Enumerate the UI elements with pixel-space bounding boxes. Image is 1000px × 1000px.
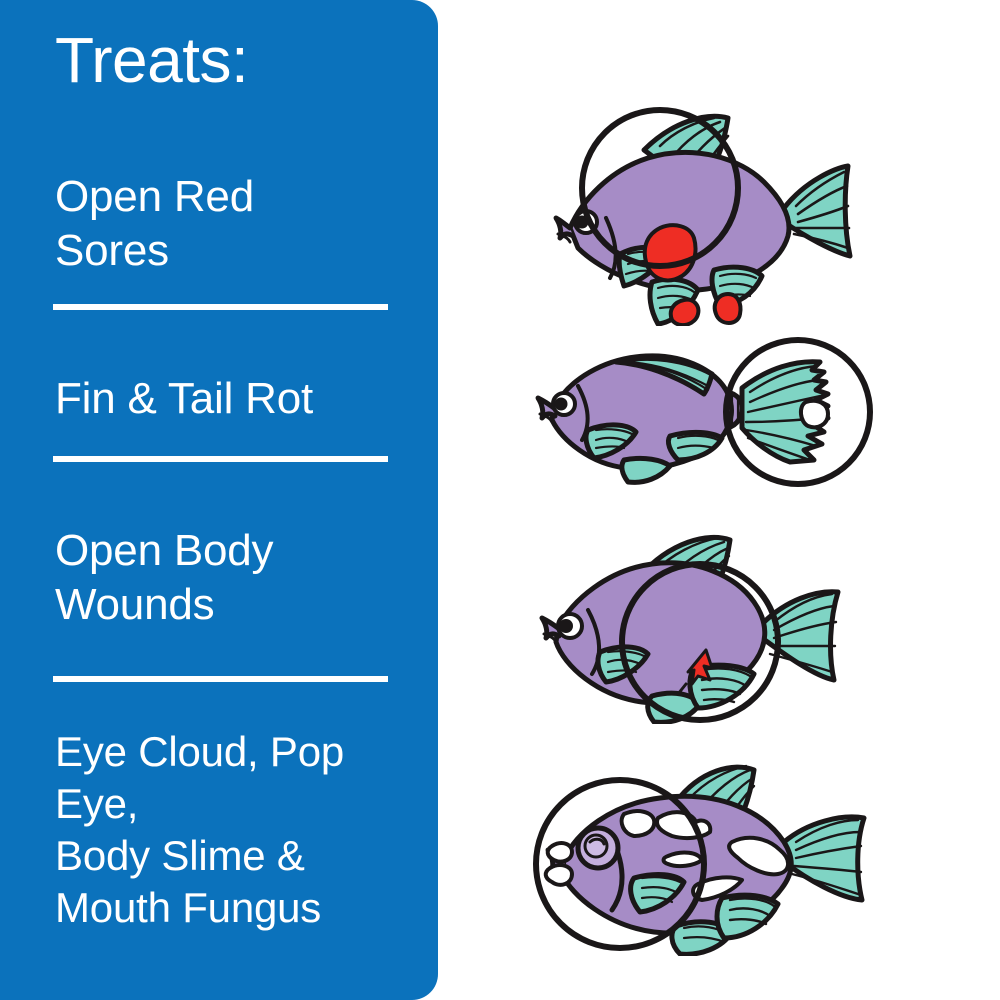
treats-panel: Treats: Open Red Sores Fin & Tail Rot Op… (0, 0, 438, 1000)
treat-label-eye-cloud-pop-eye: Eye Cloud, Pop Eye, Body Slime & Mouth F… (55, 726, 344, 934)
divider-3 (53, 676, 388, 682)
page-title: Treats: (55, 28, 248, 92)
divider-1 (53, 304, 388, 310)
fish-red-sores-icon (548, 96, 878, 326)
fish-fin-tail-rot-icon (528, 336, 878, 501)
treat-label-fin-tail-rot: Fin & Tail Rot (55, 372, 313, 426)
fish-eye-cloud-icon (516, 756, 884, 956)
poster-root: Treats: Open Red Sores Fin & Tail Rot Op… (0, 0, 1000, 1000)
divider-2 (53, 456, 388, 462)
treat-label-open-red-sores: Open Red Sores (55, 170, 254, 278)
treat-label-open-body-wounds: Open Body Wounds (55, 524, 273, 632)
fish-body-wound-icon (528, 528, 880, 724)
